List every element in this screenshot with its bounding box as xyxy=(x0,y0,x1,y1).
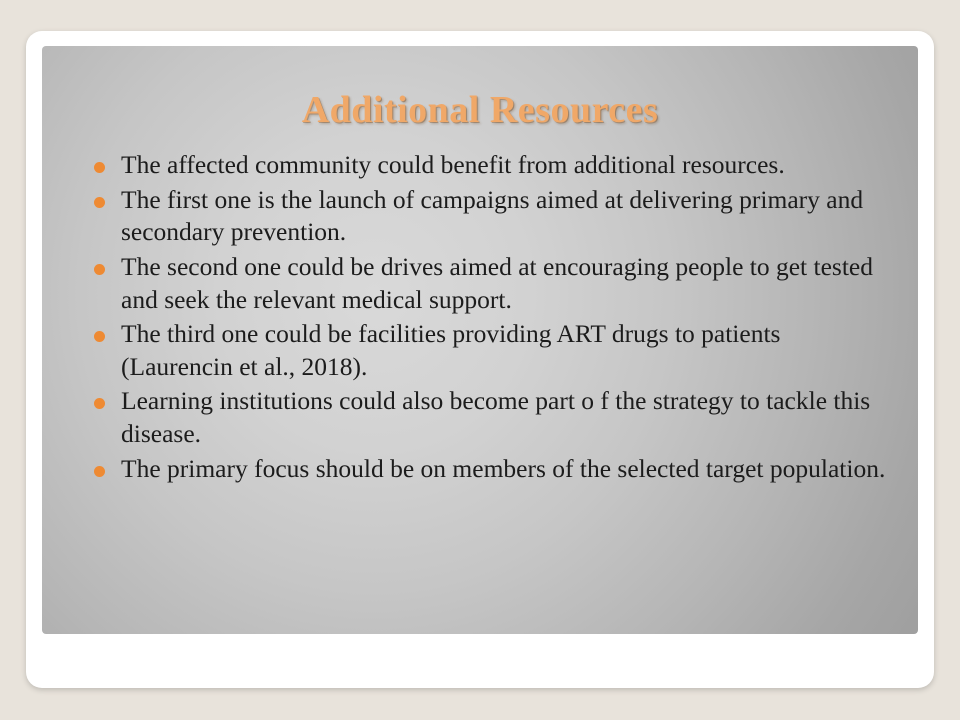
list-item-text: The third one could be facilities provid… xyxy=(121,318,894,383)
list-item: The third one could be facilities provid… xyxy=(94,318,894,383)
page-title: Additional Resources xyxy=(42,88,918,132)
slide-content-area: Additional Resources The affected commun… xyxy=(42,46,918,634)
list-item-text: The primary focus should be on members o… xyxy=(121,453,894,486)
bullet-dot-icon xyxy=(94,264,105,275)
bullet-dot-icon xyxy=(94,331,105,342)
list-item: The second one could be drives aimed at … xyxy=(94,251,894,316)
list-item: The affected community could benefit fro… xyxy=(94,149,894,182)
bullet-list: The affected community could benefit fro… xyxy=(94,149,894,487)
slide-frame: Additional Resources The affected commun… xyxy=(26,31,934,688)
bullet-dot-icon xyxy=(94,466,105,477)
list-item: Learning institutions could also become … xyxy=(94,385,894,450)
list-item-text: The affected community could benefit fro… xyxy=(121,149,894,182)
bullet-dot-icon xyxy=(94,398,105,409)
bullet-dot-icon xyxy=(94,162,105,173)
list-item-text: The second one could be drives aimed at … xyxy=(121,251,894,316)
list-item: The first one is the launch of campaigns… xyxy=(94,184,894,249)
list-item-text: The first one is the launch of campaigns… xyxy=(121,184,894,249)
list-item: The primary focus should be on members o… xyxy=(94,453,894,486)
bullet-dot-icon xyxy=(94,197,105,208)
list-item-text: Learning institutions could also become … xyxy=(121,385,894,450)
